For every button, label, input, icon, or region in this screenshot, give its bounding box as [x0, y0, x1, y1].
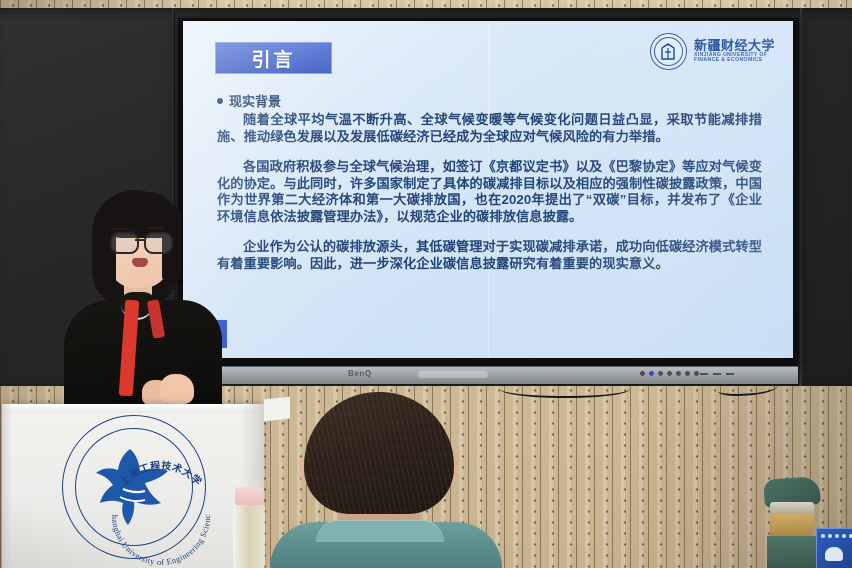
- indicator-dash-1: [700, 373, 708, 375]
- display-indicator-dashes: [700, 373, 734, 375]
- bottle-cap: [235, 487, 263, 505]
- panel-dot-4: [842, 534, 846, 538]
- presenter-person: [58, 188, 228, 413]
- display-button-row[interactable]: [640, 371, 699, 376]
- university-name-cn: 新疆财经大学: [694, 39, 775, 53]
- display-button-left[interactable]: [676, 371, 681, 376]
- panel-dot-1: [821, 534, 825, 538]
- display-button-right[interactable]: [685, 371, 690, 376]
- display-brand-label: BenQ: [348, 369, 372, 378]
- display-button-power[interactable]: [640, 371, 645, 376]
- university-logo: 新疆财经大学 XINJIANG UNIVERSITY OF FINANCE & …: [650, 33, 775, 70]
- bullet-dot-icon: [217, 98, 223, 104]
- display-button-down[interactable]: [667, 371, 672, 376]
- slide-paragraph-3: 企业作为公认的碳排放源头，其低碳管理对于实现碳减排承诺，成功向低碳经济模式转型有…: [217, 239, 762, 273]
- side-control-panel[interactable]: [816, 528, 852, 568]
- university-name-block: 新疆财经大学 XINJIANG UNIVERSITY OF FINANCE & …: [694, 39, 775, 64]
- podium-top-lip: [2, 404, 264, 413]
- svg-text:上海工程技术大学: 上海工程技术大学: [117, 459, 204, 488]
- covered-equipment: [762, 478, 822, 568]
- glasses-lens-left: [110, 232, 139, 254]
- bullet-heading-text: 现实背景: [229, 91, 281, 110]
- presentation-slide: 引言 新疆财经大学 XINJIANG UNIVERSITY OF FINANCE: [183, 21, 793, 358]
- presenter-eyebrow-right: [146, 227, 164, 229]
- university-name-en-line2: FINANCE & ECONOMICS: [694, 58, 775, 63]
- seal-arc-text: 上海工程技术大学 Shanghai University of Engineer…: [90, 445, 232, 568]
- audience-jacket-collar: [316, 520, 444, 542]
- display-screen[interactable]: 引言 新疆财经大学 XINJIANG UNIVERSITY OF FINANCE: [183, 21, 793, 358]
- panel-indicator-dots: [821, 534, 852, 538]
- lecture-photo-scene: 引言 新疆财经大学 XINJIANG UNIVERSITY OF FINANCE: [0, 0, 852, 568]
- presenter-eyebrow-left: [112, 228, 130, 230]
- panel-graphic: [825, 547, 843, 561]
- audience-hair-texture: [304, 392, 454, 514]
- display-button-up[interactable]: [658, 371, 663, 376]
- presenter-mouth: [132, 258, 148, 267]
- display-bezel-bottom: [178, 366, 798, 384]
- display-cable: [500, 380, 630, 398]
- slide-title: 引言: [251, 45, 295, 72]
- podium-edge-left: [2, 404, 12, 568]
- glasses-icon: [108, 232, 172, 250]
- panel-dot-3: [835, 534, 839, 538]
- podium-university-seal: 上海工程技术大学 Shanghai University of Engineer…: [62, 415, 204, 557]
- slide-paragraph-2: 各国政府积极参与全球气候治理，如签订《京都议定书》以及《巴黎协定》等应对气候变化…: [217, 159, 762, 226]
- indicator-dash-2: [713, 373, 721, 375]
- presenter-hand-left: [160, 374, 194, 404]
- board-seam-right: [798, 8, 802, 386]
- display-button-menu[interactable]: [649, 371, 654, 376]
- display-button-source[interactable]: [694, 371, 699, 376]
- glasses-bridge: [135, 239, 144, 241]
- panel-dot-2: [828, 534, 832, 538]
- audience-person: [276, 392, 490, 568]
- bottle-body: [233, 505, 265, 568]
- water-bottle: [232, 487, 266, 568]
- glasses-lens-right: [144, 232, 173, 254]
- indicator-dash-3: [726, 373, 734, 375]
- equipment-gold-band: [770, 514, 814, 536]
- slide-title-banner: 引言: [215, 42, 332, 74]
- university-seal-icon: [650, 33, 687, 70]
- ir-receiver-strip: [418, 371, 488, 378]
- slide-body: 现实背景 随着全球平均气温不断升高、全球气候变暖等气候变化问题日益凸显，采取节能…: [217, 91, 762, 286]
- equipment-base: [767, 536, 817, 568]
- slide-bullet-heading: 现实背景: [217, 91, 762, 110]
- slide-paragraph-1: 随着全球平均气温不断升高、全球气候变暖等气候变化问题日益凸显，采取节能减排措施、…: [217, 112, 762, 146]
